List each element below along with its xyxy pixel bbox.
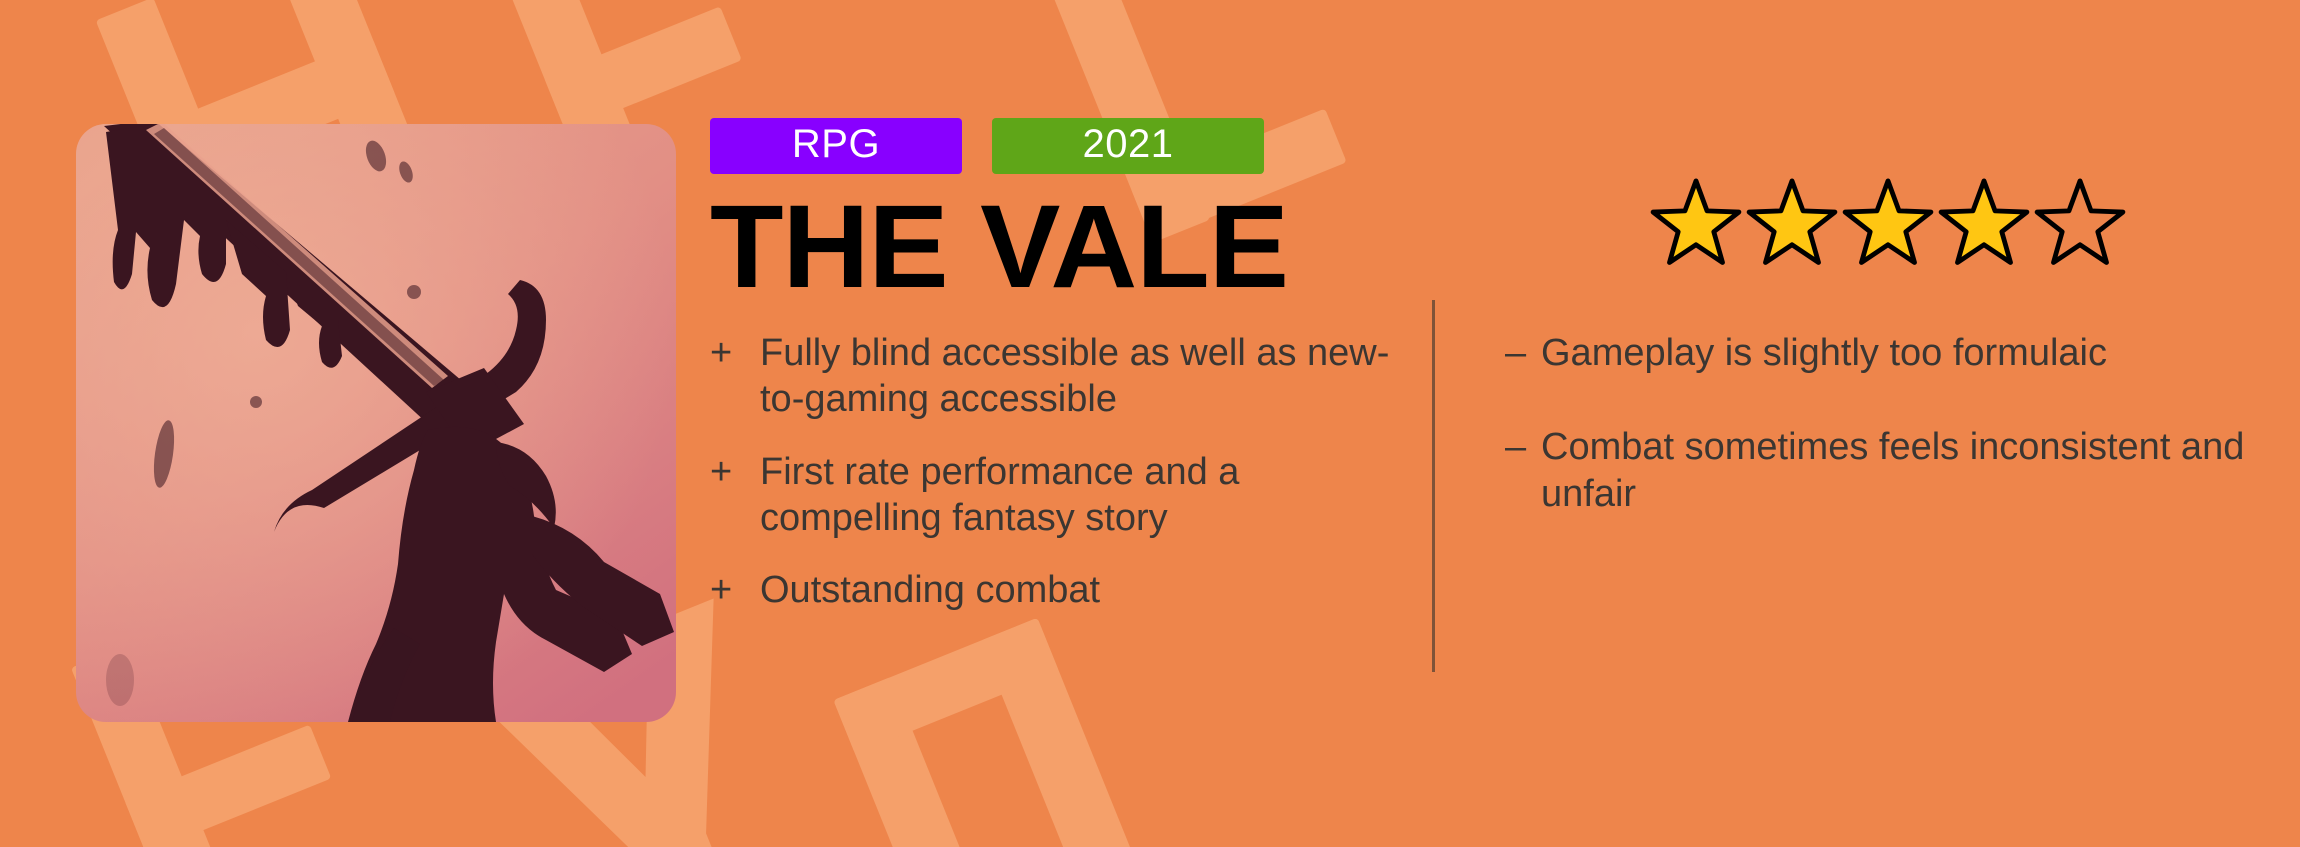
star-1-filled-icon[interactable] <box>1648 178 1744 274</box>
cons-item-text: Combat sometimes feels inconsistent and … <box>1541 424 2245 517</box>
star-3-filled-icon[interactable] <box>1840 178 1936 274</box>
star-rating[interactable] <box>1648 178 2128 274</box>
minus-icon: – <box>1505 330 1541 376</box>
plus-icon: + <box>710 449 760 495</box>
pros-list: + Fully blind accessible as well as new-… <box>710 330 1410 614</box>
pros-item-text: First rate performance and a compelling … <box>760 449 1410 542</box>
cons-list-item: – Combat sometimes feels inconsistent an… <box>1505 424 2245 517</box>
badge-row: RPG 2021 <box>710 118 1410 174</box>
cons-list: – Gameplay is slightly too formulaic – C… <box>1505 330 2245 565</box>
star-2-filled-icon[interactable] <box>1744 178 1840 274</box>
pros-item-text: Outstanding combat <box>760 567 1410 613</box>
game-review-card: RPG 2021 THE VALE + Fully blind accessib… <box>0 0 2300 847</box>
pros-list-item: + Outstanding combat <box>710 567 1410 613</box>
genre-badge[interactable]: RPG <box>710 118 962 174</box>
year-badge[interactable]: 2021 <box>992 118 1264 174</box>
plus-icon: + <box>710 330 760 376</box>
pros-list-item: + Fully blind accessible as well as new-… <box>710 330 1410 423</box>
plus-icon: + <box>710 567 760 613</box>
star-4-filled-icon[interactable] <box>1936 178 2032 274</box>
star-5-empty-icon[interactable] <box>2032 178 2128 274</box>
cons-item-text: Gameplay is slightly too formulaic <box>1541 330 2245 376</box>
game-info-column: RPG 2021 THE VALE + Fully blind accessib… <box>710 118 1410 640</box>
minus-icon: – <box>1505 424 1541 470</box>
cons-list-item: – Gameplay is slightly too formulaic <box>1505 330 2245 376</box>
game-title: THE VALE <box>710 188 1424 306</box>
pros-item-text: Fully blind accessible as well as new-to… <box>760 330 1410 423</box>
column-divider <box>1432 300 1435 672</box>
game-cover-art[interactable] <box>76 124 676 722</box>
pros-list-item: + First rate performance and a compellin… <box>710 449 1410 542</box>
